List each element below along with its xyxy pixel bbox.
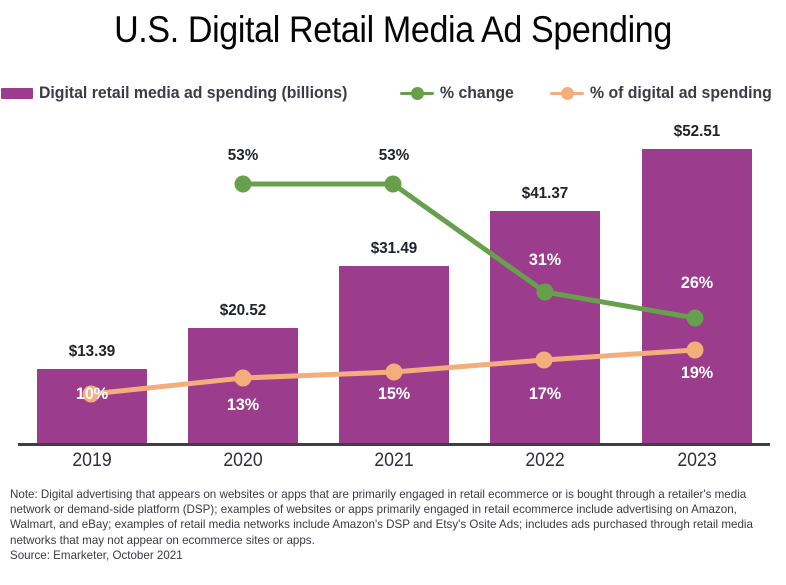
pct-of-digital-point-2022	[536, 352, 553, 369]
x-axis-label-2019: 2019	[41, 450, 143, 472]
legend-line-dot-green-icon	[400, 86, 434, 100]
pct-of-digital-point-2023	[687, 342, 704, 359]
pct-of-digital-label-2021: 15%	[342, 384, 447, 404]
legend-item-bar-spending[interactable]: Digital retail media ad spending (billio…	[1, 83, 371, 103]
pct-change-point-2021	[385, 176, 402, 193]
legend-item-pct-of-digital[interactable]: % of digital ad spending	[550, 83, 786, 103]
legend-label-pct-of-digital: % of digital ad spending	[590, 83, 772, 103]
x-axis-labels: 2019 2020 2021 2022 2023	[0, 450, 786, 474]
plot-area: $13.39 $20.52 $31.49 $41.37 $52.51 53% 5…	[0, 110, 786, 450]
pct-change-label-2022: 31%	[493, 250, 598, 270]
pct-change-line	[243, 184, 695, 318]
chart-legend: Digital retail media ad spending (billio…	[0, 80, 786, 106]
pct-change-point-2023	[687, 310, 704, 327]
chart-container: U.S. Digital Retail Media Ad Spending Di…	[0, 0, 786, 585]
legend-item-pct-change[interactable]: % change	[400, 83, 519, 103]
x-axis-label-2023: 2023	[646, 450, 748, 472]
x-axis-label-2022: 2022	[494, 450, 596, 472]
pct-change-label-2021: 53%	[342, 147, 447, 165]
pct-change-label-2023: 26%	[645, 273, 750, 293]
legend-line-dot-orange-icon	[550, 86, 584, 100]
pct-change-label-2020: 53%	[191, 147, 296, 165]
footnote-note: Note: Digital advertising that appears o…	[10, 487, 776, 548]
legend-label-pct-change: % change	[440, 83, 514, 103]
chart-footer: Note: Digital advertising that appears o…	[10, 487, 776, 563]
pct-of-digital-point-2020	[235, 370, 252, 387]
x-axis-label-2020: 2020	[192, 450, 294, 472]
pct-of-digital-label-2022: 17%	[493, 384, 598, 404]
pct-of-digital-point-2021	[386, 364, 403, 381]
x-axis-label-2021: 2021	[343, 450, 445, 472]
x-axis-line	[18, 443, 770, 446]
pct-change-point-2020	[235, 176, 252, 193]
chart-title: U.S. Digital Retail Media Ad Spending	[31, 8, 754, 52]
legend-label-bar-spending: Digital retail media ad spending (billio…	[39, 83, 347, 103]
pct-of-digital-label-2023: 19%	[645, 363, 750, 383]
legend-bar-swatch-icon	[1, 88, 33, 99]
pct-of-digital-label-2019: 10%	[40, 384, 145, 404]
pct-change-point-2022	[537, 284, 554, 301]
pct-of-digital-label-2020: 13%	[191, 395, 296, 415]
footnote-source: Source: Emarketer, October 2021	[10, 548, 776, 563]
